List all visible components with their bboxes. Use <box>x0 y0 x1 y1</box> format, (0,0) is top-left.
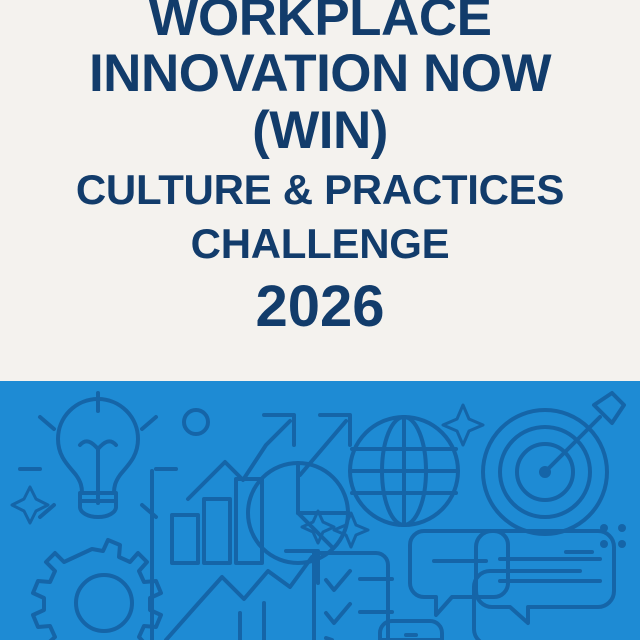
gear-icon <box>33 540 161 640</box>
globe-icon <box>350 417 458 525</box>
poster-title-line-1: WORKPLACE <box>10 0 630 46</box>
icon-pattern-illustration <box>0 381 640 640</box>
title-stack: WORKPLACE INNOVATION NOW (WIN) CULTURE &… <box>0 0 640 338</box>
poster-canvas: WORKPLACE INNOVATION NOW (WIN) CULTURE &… <box>0 0 640 640</box>
illustration-band <box>0 381 640 640</box>
sparkle-icon <box>302 511 334 543</box>
target-dart-icon <box>483 393 624 534</box>
chat-bubble-icon <box>474 531 614 640</box>
growth-arrow-icon <box>188 415 294 499</box>
poster-header: WORKPLACE INNOVATION NOW (WIN) CULTURE &… <box>0 0 640 381</box>
small-circle-icon <box>184 410 208 434</box>
poster-subtitle-line-1: CULTURE & PRACTICES <box>10 166 630 214</box>
sparkle-icon <box>12 487 48 523</box>
poster-title-acronym: (WIN) <box>10 102 630 160</box>
poster-year: 2026 <box>10 276 630 338</box>
poster-subtitle-line-2: CHALLENGE <box>10 220 630 268</box>
poster-title-line-2: INNOVATION NOW <box>10 46 630 102</box>
trend-arrow-icon <box>300 415 350 475</box>
